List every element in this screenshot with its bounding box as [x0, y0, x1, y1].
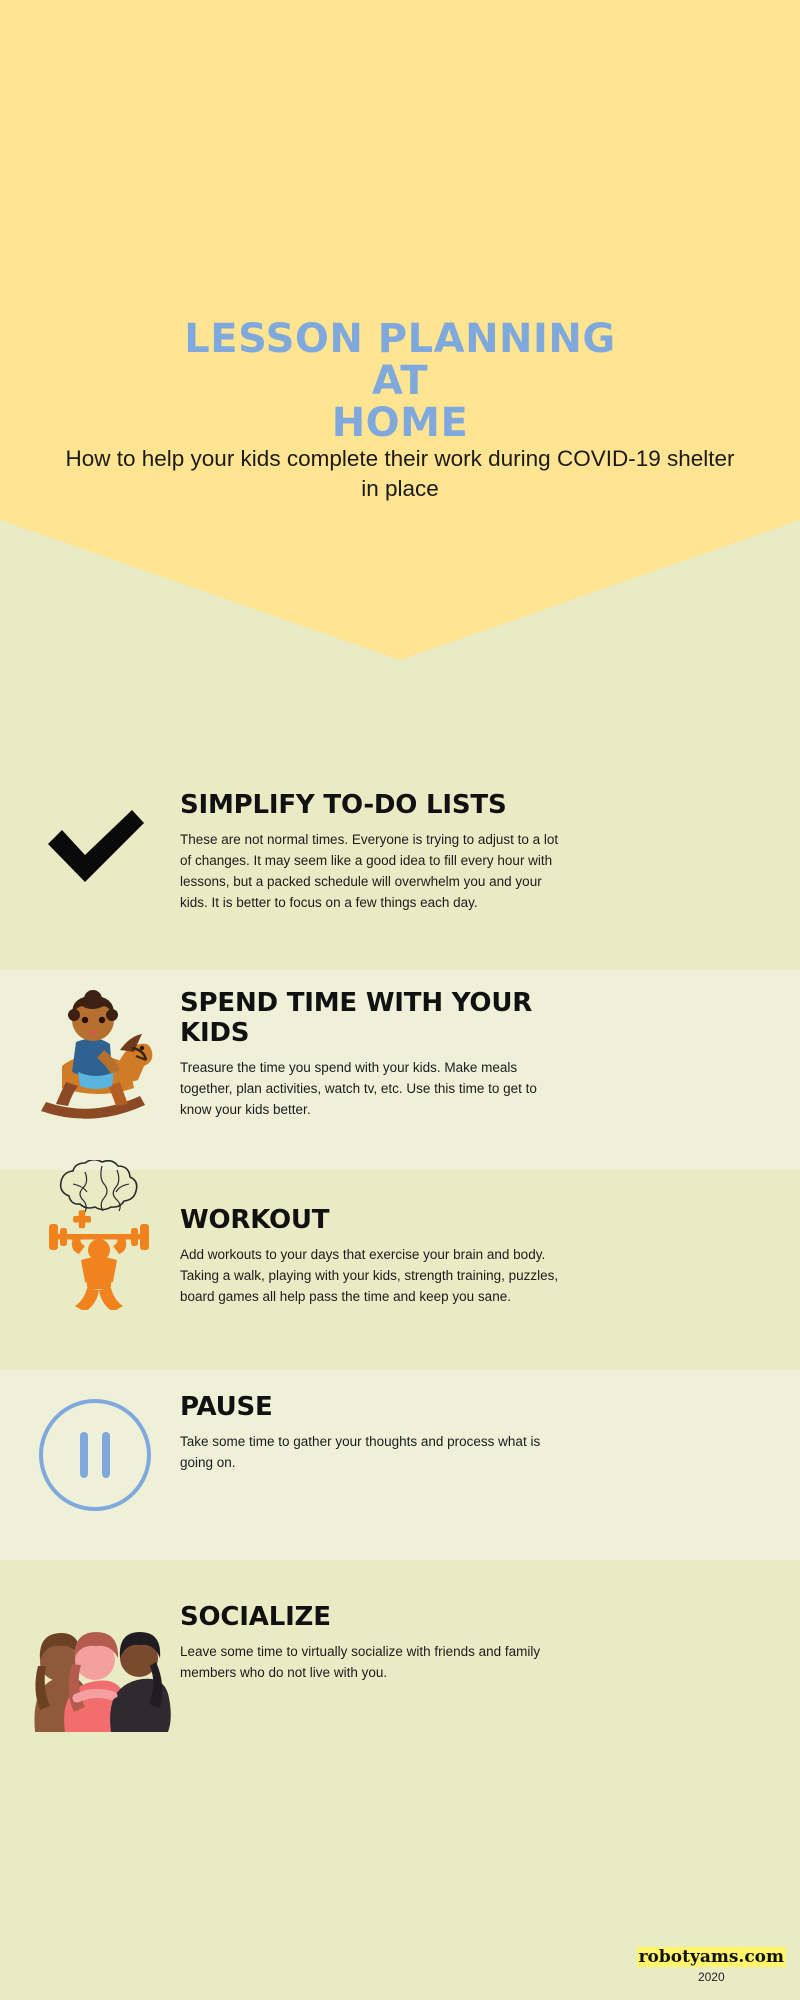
- section-1-body: These are not normal times. Everyone is …: [180, 829, 570, 913]
- brain-and-weightlifter-icon: [30, 1160, 170, 1310]
- section-1-text: SIMPLIFY TO-DO LISTS These are not norma…: [180, 790, 570, 913]
- section-4-body: Take some time to gather your thoughts a…: [180, 1431, 570, 1473]
- footer: robotyams.com 2020: [637, 1947, 786, 1984]
- footer-year: 2020: [637, 1970, 786, 1984]
- page-subtitle: How to help your kids complete their wor…: [0, 444, 800, 504]
- section-3-body: Add workouts to your days that exercise …: [180, 1244, 570, 1307]
- section-3-text: WORKOUT Add workouts to your days that e…: [180, 1205, 570, 1307]
- page-title: LESSON PLANNING AT HOME: [0, 318, 800, 444]
- section-5-heading: SOCIALIZE: [180, 1602, 570, 1632]
- footer-domain-link[interactable]: robotyams.com: [637, 1947, 786, 1967]
- section-2-body: Treasure the time you spend with your ki…: [180, 1057, 570, 1120]
- infographic-page: KAI'S ASSIGNMENTS DATES NOTES: MON TUES: [0, 0, 800, 2000]
- page-title-line-1: LESSON PLANNING: [184, 316, 615, 362]
- child-on-rocking-horse-icon: [28, 985, 158, 1125]
- section-4-text: PAUSE Take some time to gather your thou…: [180, 1392, 570, 1473]
- checkmark-icon: [30, 780, 160, 910]
- section-5-body: Leave some time to virtually socialize w…: [180, 1641, 570, 1683]
- section-3-heading: WORKOUT: [180, 1205, 570, 1235]
- section-4-heading: PAUSE: [180, 1392, 570, 1422]
- section-spacer-top: [0, 660, 800, 770]
- section-1-heading: SIMPLIFY TO-DO LISTS: [180, 790, 570, 820]
- group-of-people-icon: [18, 1605, 178, 1735]
- section-5-text: SOCIALIZE Leave some time to virtually s…: [180, 1602, 570, 1683]
- section-2-text: SPEND TIME WITH YOUR KIDS Treasure the t…: [180, 988, 570, 1120]
- page-title-line-2: AT: [0, 360, 800, 402]
- pause-circle-icon: [30, 1390, 160, 1520]
- page-title-line-3: HOME: [0, 402, 800, 444]
- section-2-heading: SPEND TIME WITH YOUR KIDS: [180, 988, 570, 1048]
